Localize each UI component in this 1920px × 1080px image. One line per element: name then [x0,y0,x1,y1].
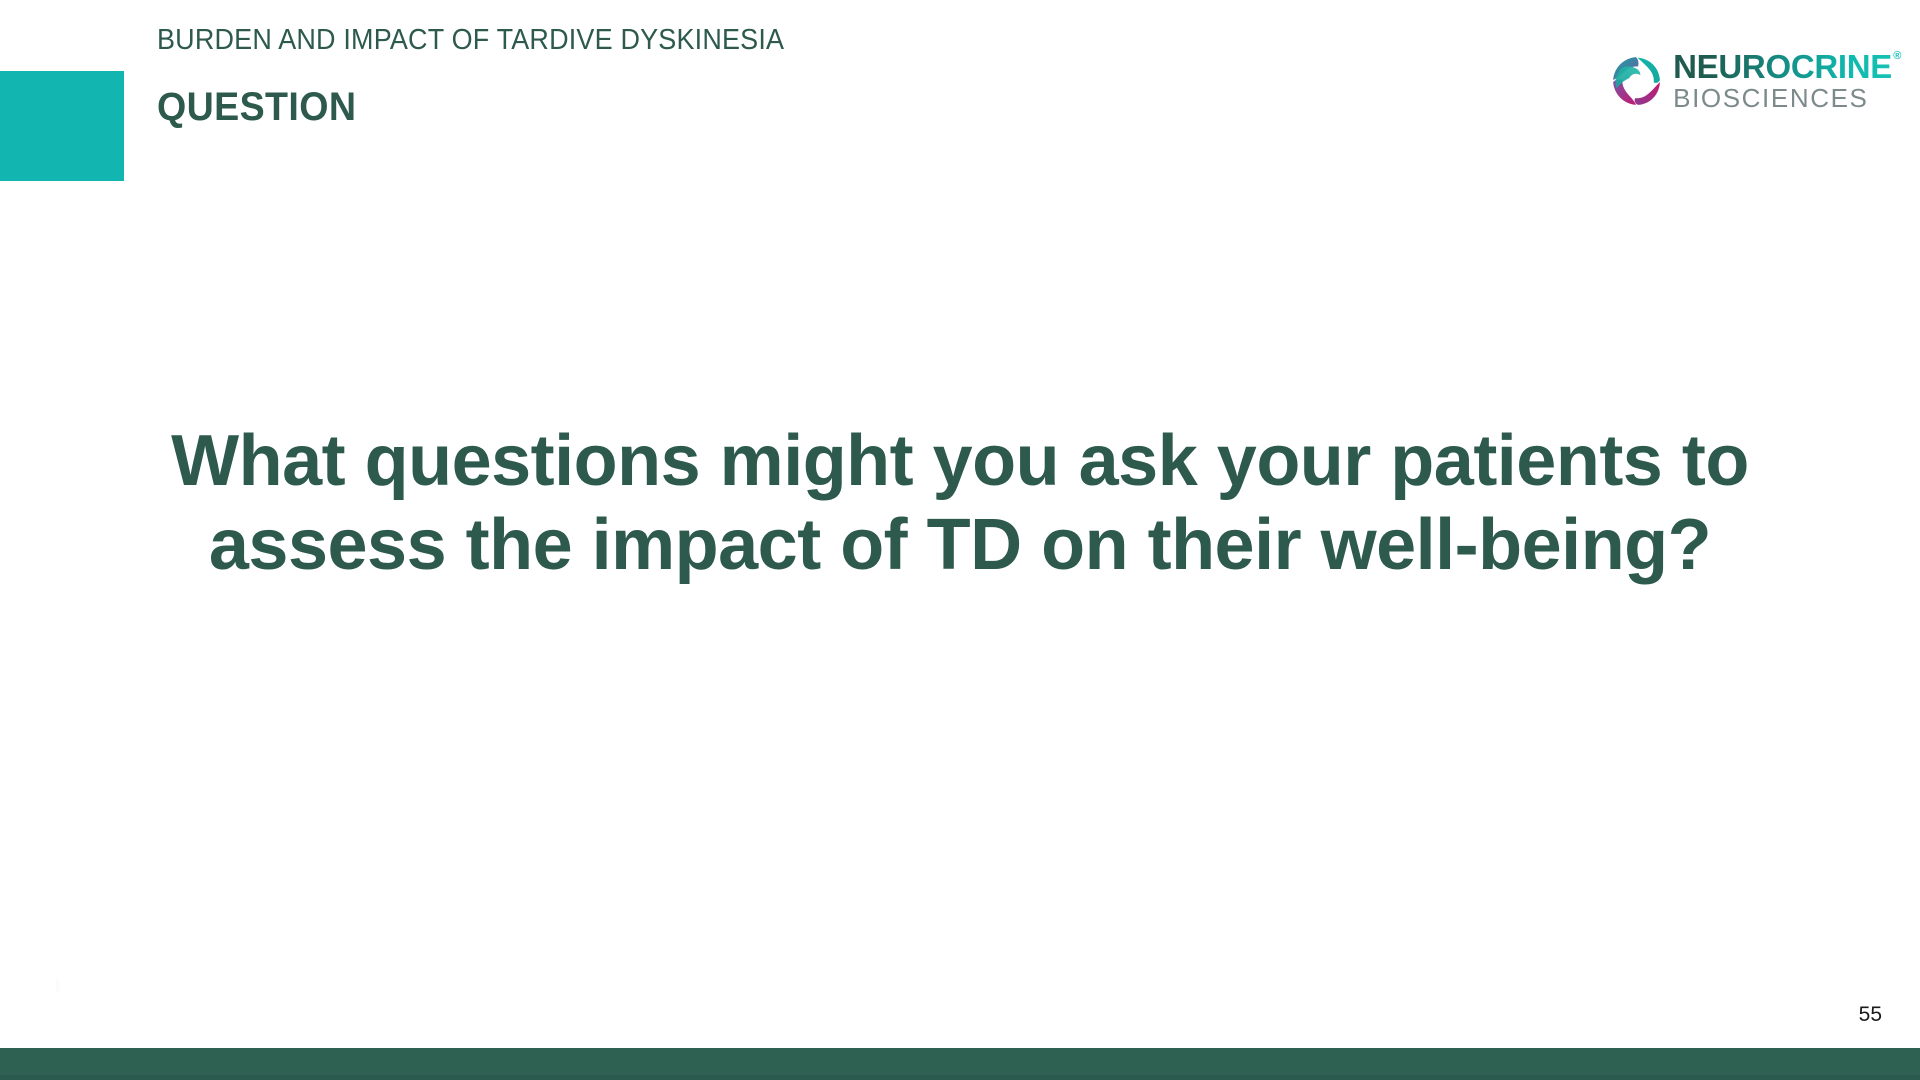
page-number: 55 [1859,1003,1882,1027]
question-text: What questions might you ask your patien… [120,420,1800,587]
logo-wordmark: NEUROCRINE ® BIOSCIENCES [1673,50,1892,111]
logo-secondary-label: BIOSCIENCES [1673,85,1892,111]
brand-logo: NEUROCRINE ® BIOSCIENCES [1610,50,1892,111]
footer-bar-lower [0,1075,1920,1080]
scan-artifact [56,980,59,993]
registered-trademark-icon: ® [1893,51,1901,62]
logo-primary-label: NEUROCRINE [1673,48,1892,85]
page-title: QUESTION [157,85,356,130]
slide-canvas: BURDEN AND IMPACT OF TARDIVE DYSKINESIA … [0,0,1920,1080]
neurocrine-swirl-icon [1610,55,1662,107]
deck-section-eyebrow: BURDEN AND IMPACT OF TARDIVE DYSKINESIA [157,24,784,57]
accent-block [0,71,124,181]
question-container: What questions might you ask your patien… [120,420,1800,587]
footer-bar [0,1048,1920,1075]
logo-primary-text: NEUROCRINE ® [1673,50,1892,83]
